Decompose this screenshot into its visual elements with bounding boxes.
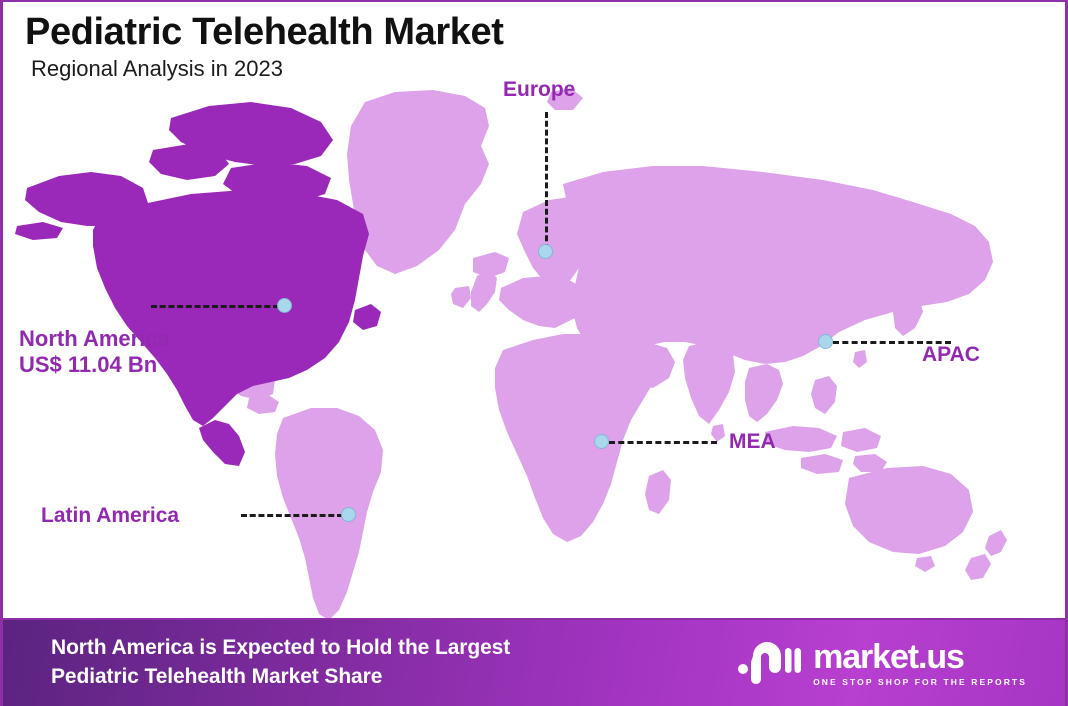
page-subtitle: Regional Analysis in 2023 [31,57,1065,81]
logo-wordmark: market.us [813,640,1027,674]
footer-banner: North America is Expected to Hold the La… [3,618,1065,706]
market-us-logo-icon [737,642,801,684]
footer-headline-line1: North America is Expected to Hold the La… [51,634,510,663]
map-marker-north-america[interactable] [277,298,292,313]
logo-text-block: market.us ONE STOP SHOP FOR THE REPORTS [813,640,1027,687]
logo-tagline: ONE STOP SHOP FOR THE REPORTS [813,678,1027,687]
region-label-apac-text: APAC [922,343,980,366]
leader-line-north-america [151,305,279,308]
map-marker-mea[interactable] [594,434,609,449]
leader-line-latin-america [241,514,343,517]
infographic-canvas: Pediatric Telehealth Market Regional Ana… [0,0,1068,706]
header: Pediatric Telehealth Market Regional Ana… [3,2,1065,81]
region-label-apac[interactable]: APAC [922,343,980,368]
leader-line-apac [833,341,951,344]
footer-headline: North America is Expected to Hold the La… [51,634,510,692]
leader-line-europe [545,112,548,250]
region-label-latin-america[interactable]: Latin America [41,504,179,529]
region-label-mea-text: MEA [729,430,776,453]
region-label-mea[interactable]: MEA [729,430,776,455]
region-label-europe[interactable]: Europe [503,78,575,103]
brand-logo[interactable]: market.us ONE STOP SHOP FOR THE REPORTS [737,640,1035,687]
region-label-north-america[interactable]: North America US$ 11.04 Bn [19,326,170,378]
footer-headline-line2: Pediatric Telehealth Market Share [51,663,510,692]
page-title: Pediatric Telehealth Market [25,12,1065,53]
map-marker-apac[interactable] [818,334,833,349]
map-marker-latin-america[interactable] [341,507,356,522]
region-label-north-america-text: North America [19,326,170,351]
region-label-latin-america-text: Latin America [41,504,179,527]
region-label-europe-text: Europe [503,78,575,101]
leader-line-mea [609,441,717,444]
map-marker-europe[interactable] [538,244,553,259]
region-value-north-america: US$ 11.04 Bn [19,352,170,378]
map-region-rest-of-world [215,88,1007,620]
